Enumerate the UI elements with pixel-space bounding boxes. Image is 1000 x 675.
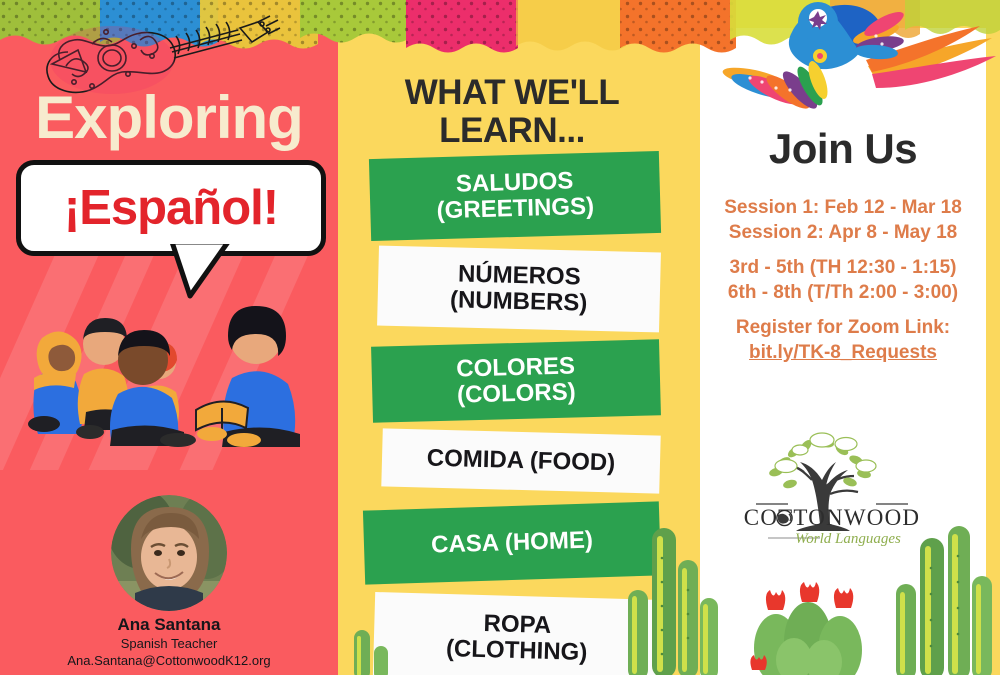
topic-banner-numeros[interactable]: NÚMEROS (NUMBERS) [377, 246, 661, 333]
topic-spanish-3: COMIDA (FOOD) [426, 446, 615, 477]
topic-banner-casa[interactable]: CASA (HOME) [363, 501, 661, 584]
poster-flyer: Exploring ¡Español! [0, 0, 1000, 675]
topic-spanish-4: CASA (HOME) [431, 528, 593, 559]
logo-tagline: World Languages [795, 531, 901, 547]
logo-wordmark: COTTONWOOD [744, 505, 920, 530]
teacher-email[interactable]: Ana.Santana@CottonwoodK12.org [0, 653, 338, 668]
teacher-name: Ana Santana [0, 615, 338, 635]
grades-6-8-time: 6th - 8th (T/Th 2:00 - 3:00) [700, 281, 986, 306]
learn-heading: WHAT WE'LL LEARN... [348, 74, 676, 150]
register-block: Register for Zoom Link: bit.ly/TK-8_Requ… [700, 316, 986, 365]
topic-english-1: (NUMBERS) [450, 287, 588, 316]
join-us-heading: Join Us [700, 125, 986, 173]
session-dates: Session 1: Feb 12 - Mar 18 Session 2: Ap… [700, 196, 986, 245]
register-label: Register for Zoom Link: [700, 316, 986, 341]
register-link[interactable]: bit.ly/TK-8_Requests [700, 341, 986, 366]
topic-banner-comida[interactable]: COMIDA (FOOD) [381, 428, 660, 493]
grades-3-5-time: 3rd - 5th (TH 12:30 - 1:15) [700, 256, 986, 281]
learn-heading-line2: LEARN... [348, 112, 676, 150]
grade-times: 3rd - 5th (TH 12:30 - 1:15) 6th - 8th (T… [700, 256, 986, 305]
topic-english-2: (COLORS) [457, 379, 576, 408]
session-1-dates: Session 1: Feb 12 - Mar 18 [700, 196, 986, 221]
students-illustration [28, 282, 328, 447]
topic-banner-colores[interactable]: COLORES (COLORS) [371, 339, 661, 423]
teacher-role: Spanish Teacher [0, 636, 338, 651]
cottonwood-logo: COTTONWOOD World Languages [742, 432, 922, 557]
teacher-avatar [111, 495, 227, 611]
topic-english-5: (CLOTHING) [446, 636, 588, 666]
speech-bubble-tail [170, 240, 240, 300]
topic-banner-ropa[interactable]: ROPA (CLOTHING) [373, 592, 661, 675]
topic-english-0: (GREETINGS) [436, 194, 594, 224]
page-title: Exploring [0, 88, 338, 148]
learn-heading-line1: WHAT WE'LL [348, 74, 676, 112]
topic-banner-saludos[interactable]: SALUDOS (GREETINGS) [369, 151, 661, 241]
speech-bubble-text: ¡Español! [64, 184, 278, 233]
session-2-dates: Session 2: Apr 8 - May 18 [700, 221, 986, 246]
